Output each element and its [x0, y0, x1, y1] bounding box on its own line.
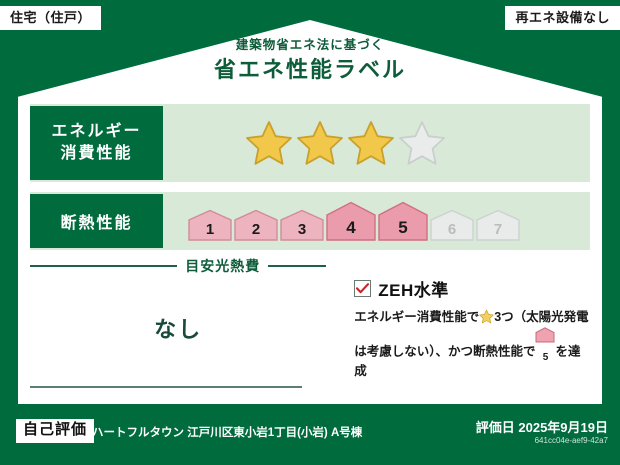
insulation-level-number: 5 — [398, 218, 407, 241]
energy-performance-label-box: エネルギー 消費性能 — [30, 106, 163, 180]
insulation-level-number: 4 — [346, 218, 355, 241]
heading-rule-left — [30, 265, 177, 267]
tag-building-type: 住宅（住戸） — [0, 6, 101, 30]
inline-insulation-badge: 5 — [535, 327, 555, 343]
heading-rule-right — [268, 265, 326, 267]
energy-performance-row: エネルギー 消費性能 — [30, 104, 590, 182]
inline-star-icon — [479, 309, 494, 324]
tag-renewable-energy: 再エネ設備なし — [505, 6, 620, 30]
star-filled-icon — [296, 119, 344, 167]
star-empty-icon — [398, 119, 446, 167]
insulation-level-badge: 2 — [234, 209, 278, 241]
utility-cost-heading: 目安光熱費 — [177, 256, 268, 276]
insulation-level-number: 1 — [206, 221, 214, 241]
insulation-level-badge: 1 — [188, 209, 232, 241]
zeh-panel: ZEH水準 エネルギー消費性能で 3つ（太陽光発電 は考慮しない）、かつ断熱性能… — [326, 258, 590, 396]
utility-cost-heading-row: 目安光熱費 — [30, 258, 326, 274]
self-evaluation-badge: 自己評価 — [16, 419, 94, 443]
energy-label-line1: エネルギー — [51, 121, 141, 143]
insulation-level-badge: 4 — [326, 201, 376, 241]
insulation-performance-label-box: 断熱性能 — [30, 194, 163, 248]
zeh-heading-row: ZEH水準 — [354, 276, 590, 301]
energy-performance-label: 住宅（住戸） 再エネ設備なし 建築物省エネ法に基づく 省エネ性能ラベル エネルギ… — [0, 0, 620, 465]
energy-label-line2: 消費性能 — [60, 143, 132, 165]
insulation-level-badges: 1234567 — [188, 201, 520, 241]
insulation-level-number: 3 — [298, 221, 306, 241]
star-filled-icon — [245, 119, 293, 167]
zeh-desc-line1-b: 3つ（太陽光発電 — [494, 310, 588, 324]
lower-section: 目安光熱費 なし ZEH水準 エネルギー消費性能で 3つ（太陽光発電 — [30, 258, 590, 396]
inline-badge-number: 5 — [543, 352, 549, 363]
zeh-checkbox[interactable] — [354, 280, 371, 297]
evaluation-id: 641cc04e-aef9-42a7 — [535, 436, 608, 445]
label-title-block: 建築物省エネ法に基づく 省エネ性能ラベル — [0, 38, 620, 84]
zeh-title: ZEH水準 — [378, 276, 449, 301]
energy-performance-content — [163, 104, 590, 182]
star-filled-icon — [347, 119, 395, 167]
utility-cost-value: なし — [30, 312, 326, 344]
insulation-level-number: 7 — [494, 221, 502, 241]
utility-cost-panel: 目安光熱費 なし — [30, 258, 326, 396]
star-rating — [245, 119, 446, 167]
insulation-level-badge: 5 — [378, 201, 428, 241]
insulation-level-number: 2 — [252, 221, 260, 241]
insulation-performance-content: 1234567 — [163, 192, 590, 250]
insulation-level-badge: 3 — [280, 209, 324, 241]
zeh-description: エネルギー消費性能で 3つ（太陽光発電 は考慮しない）、かつ断熱性能で 5 を達… — [354, 308, 590, 382]
insulation-level-badge: 7 — [476, 209, 520, 241]
insulation-performance-row: 断熱性能 1234567 — [30, 192, 590, 250]
label-footer: 自己評価 ハートフルタウン 江戸川区東小岩1丁目(小岩) A号棟 評価日 202… — [0, 407, 620, 465]
zeh-desc-line1-a: エネルギー消費性能で — [354, 310, 479, 324]
insulation-level-badge: 6 — [430, 209, 474, 241]
label-title: 省エネ性能ラベル — [0, 56, 620, 84]
zeh-desc-line2-a: は考慮しない）、かつ断熱性能で — [354, 345, 535, 359]
evaluation-date: 評価日 2025年9月19日 — [476, 417, 608, 436]
insulation-level-number: 6 — [448, 221, 456, 241]
label-subtitle: 建築物省エネ法に基づく — [0, 38, 620, 53]
property-address: ハートフルタウン 江戸川区東小岩1丁目(小岩) A号棟 — [92, 424, 362, 440]
utility-cost-bottom-rule — [30, 386, 302, 388]
insulation-label: 断熱性能 — [60, 209, 132, 233]
